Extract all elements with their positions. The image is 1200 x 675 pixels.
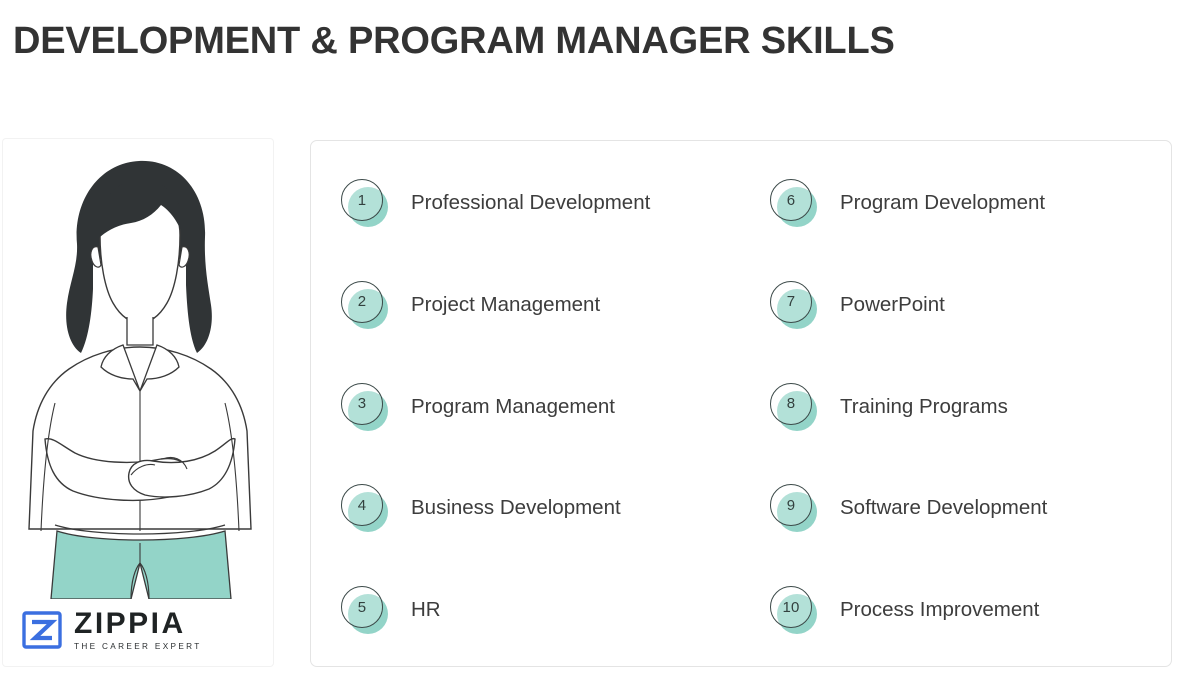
list-item[interactable]: 4 Business Development <box>339 482 741 534</box>
list-item[interactable]: 10 Process Improvement <box>768 584 1171 636</box>
zippia-wordmark: ZIPPIA <box>74 609 203 639</box>
skill-number-badge: 9 <box>768 482 820 534</box>
badge-number: 10 <box>770 586 812 628</box>
zippia-tagline: THE CAREER EXPERT <box>74 641 203 652</box>
list-item[interactable]: 2 Project Management <box>339 279 741 331</box>
list-item[interactable]: 9 Software Development <box>768 482 1171 534</box>
badge-number: 2 <box>341 281 383 323</box>
skill-number-badge: 2 <box>339 279 391 331</box>
list-item[interactable]: 7 PowerPoint <box>768 279 1171 331</box>
skill-label: Program Management <box>411 394 615 420</box>
skill-label: Professional Development <box>411 190 650 216</box>
zippia-logo[interactable]: ZIPPIA THE CAREER EXPERT <box>19 603 205 654</box>
skill-label: HR <box>411 597 441 623</box>
skills-column-right: 6 Program Development 7 PowerPoint <box>741 177 1171 636</box>
skill-label: Software Development <box>840 495 1047 521</box>
skills-card: 1 Professional Development 2 Project Man… <box>310 140 1172 667</box>
skill-number-badge: 8 <box>768 381 820 433</box>
badge-number: 8 <box>770 383 812 425</box>
list-item[interactable]: 8 Training Programs <box>768 381 1171 433</box>
skills-columns: 1 Professional Development 2 Project Man… <box>311 141 1171 666</box>
badge-number: 4 <box>341 484 383 526</box>
list-item[interactable]: 1 Professional Development <box>339 177 741 229</box>
skill-number-badge: 6 <box>768 177 820 229</box>
infographic-canvas: DEVELOPMENT & PROGRAM MANAGER SKILLS <box>0 0 1200 675</box>
skill-number-badge: 7 <box>768 279 820 331</box>
list-item[interactable]: 6 Program Development <box>768 177 1171 229</box>
page-title: DEVELOPMENT & PROGRAM MANAGER SKILLS <box>13 18 1173 64</box>
skill-label: Project Management <box>411 292 600 318</box>
list-item[interactable]: 5 HR <box>339 584 741 636</box>
skill-number-badge: 5 <box>339 584 391 636</box>
woman-with-crossed-arms-illustration <box>3 139 274 599</box>
badge-number: 5 <box>341 586 383 628</box>
zippia-z-mark-icon <box>21 609 63 651</box>
skill-label: PowerPoint <box>840 292 945 318</box>
badge-number: 1 <box>341 179 383 221</box>
skill-number-badge: 4 <box>339 482 391 534</box>
badge-number: 6 <box>770 179 812 221</box>
skill-label: Program Development <box>840 190 1045 216</box>
skill-label: Process Improvement <box>840 597 1039 623</box>
badge-number: 7 <box>770 281 812 323</box>
illustration-panel: ZIPPIA THE CAREER EXPERT <box>2 138 274 667</box>
badge-number: 9 <box>770 484 812 526</box>
skill-number-badge: 3 <box>339 381 391 433</box>
list-item[interactable]: 3 Program Management <box>339 381 741 433</box>
skills-column-left: 1 Professional Development 2 Project Man… <box>311 177 741 636</box>
skill-number-badge: 1 <box>339 177 391 229</box>
skill-number-badge: 10 <box>768 584 820 636</box>
badge-number: 3 <box>341 383 383 425</box>
skill-label: Training Programs <box>840 394 1008 420</box>
skill-label: Business Development <box>411 495 621 521</box>
